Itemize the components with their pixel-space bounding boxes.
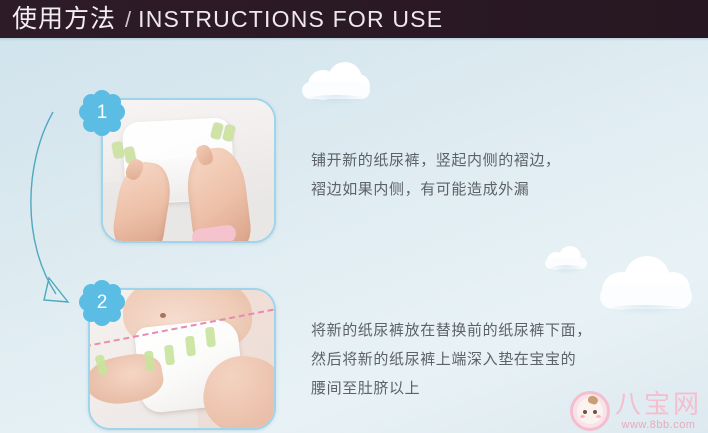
watermark-text-group: 八宝网 www.8bb.com bbox=[615, 392, 702, 431]
header-title-group: 使用方法 / INSTRUCTIONS FOR USE bbox=[0, 6, 443, 33]
step-1-photo bbox=[101, 98, 276, 243]
step-1-text: 铺开新的纸尿裤，竖起内侧的褶边， 褶边如果内侧，有可能造成外漏 bbox=[311, 146, 561, 204]
cloud-top bbox=[300, 62, 372, 100]
step-1-badge: 1 bbox=[79, 90, 125, 136]
step-1-line-2: 褶边如果内侧，有可能造成外漏 bbox=[311, 175, 561, 204]
instructions-page: 使用方法 / INSTRUCTIONS FOR USE bbox=[0, 0, 708, 433]
step-flow-arrow bbox=[18, 108, 84, 308]
watermark-site-name: 八宝网 bbox=[615, 392, 702, 418]
step-2-line-2: 然后将新的纸尿裤上端深入垫在宝宝的 bbox=[311, 345, 592, 374]
step-2-line-3: 腰间至肚脐以上 bbox=[311, 374, 592, 403]
cloud-large-right bbox=[598, 254, 694, 310]
baby-face-logo bbox=[570, 391, 610, 431]
step-1-number: 1 bbox=[79, 90, 125, 136]
page-header: 使用方法 / INSTRUCTIONS FOR USE bbox=[0, 0, 708, 38]
site-watermark: 八宝网 www.8bb.com bbox=[570, 391, 702, 431]
step-2-text: 将新的纸尿裤放在替换前的纸尿裤下面， 然后将新的纸尿裤上端深入垫在宝宝的 腰间至… bbox=[311, 316, 592, 403]
step-2-number: 2 bbox=[79, 280, 125, 326]
cloud-small-right bbox=[545, 246, 587, 270]
watermark-url: www.8bb.com bbox=[615, 419, 702, 431]
header-shadow bbox=[0, 38, 708, 41]
step-2-line-1: 将新的纸尿裤放在替换前的纸尿裤下面， bbox=[311, 316, 592, 345]
page-title-cn: 使用方法 bbox=[12, 6, 116, 31]
step-2-badge: 2 bbox=[79, 280, 125, 326]
title-separator: / bbox=[125, 7, 131, 33]
step-1-line-1: 铺开新的纸尿裤，竖起内侧的褶边， bbox=[311, 146, 561, 175]
step-1-image bbox=[103, 100, 274, 241]
page-title-en: INSTRUCTIONS FOR USE bbox=[138, 6, 443, 33]
